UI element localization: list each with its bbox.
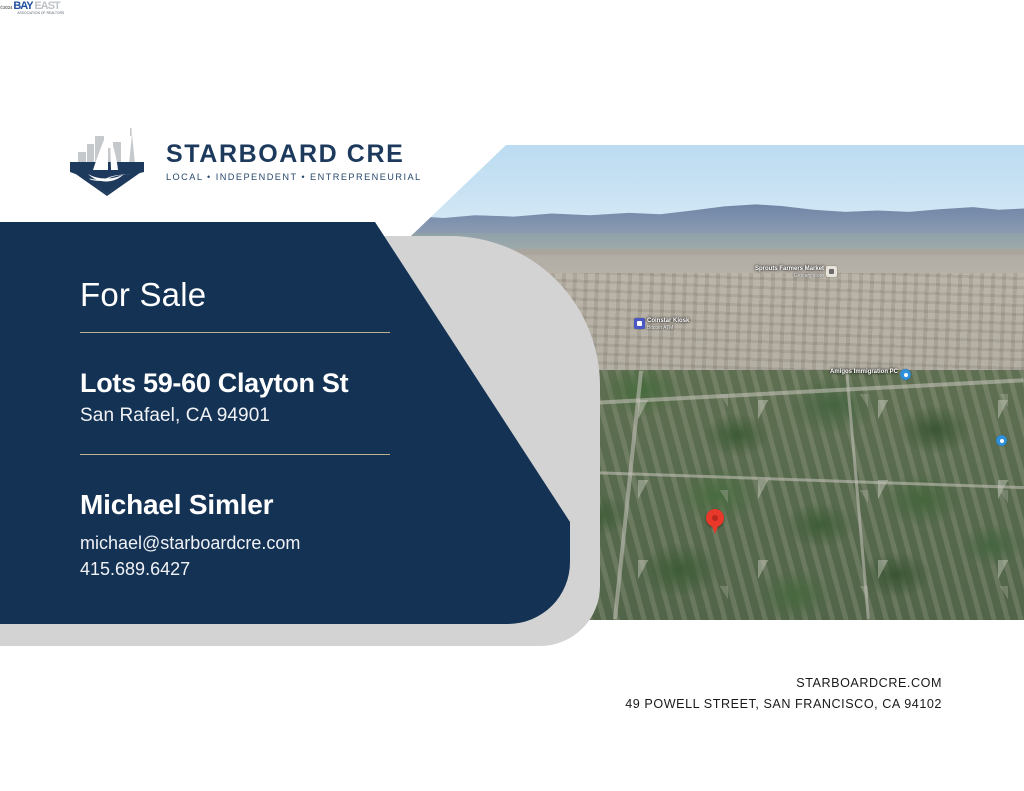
poi-circle-icon [900,369,911,380]
listing-info-panel: For Sale Lots 59-60 Clayton St San Rafae… [0,222,600,624]
divider-top [80,332,390,333]
map-poi-right-edge[interactable] [996,435,1007,446]
divider-bottom [80,454,390,455]
brand-name: STARBOARD CRE [166,141,422,167]
bayeast-attribution-logo: ©2024 BAY EAST ASSOCIATION OF REALTORS [0,0,74,16]
property-city: San Rafael, CA 94901 [80,404,270,428]
poi-circle-icon [996,435,1007,446]
sailboat-skyline-icon [68,126,146,196]
copyright-text: ©2024 [0,6,13,11]
poi-square-icon [826,266,837,277]
brand-tagline: LOCAL • INDEPENDENT • ENTREPRENEURIAL [166,172,422,182]
footer: STARBOARDCRE.COM 49 POWELL STREET, SAN F… [625,673,942,715]
agent-email[interactable]: michael@starboardcre.com [80,531,300,555]
page-title: Lots 59-60 Clayton St [80,367,348,399]
map-poi-sprouts[interactable]: Sprouts Farmers Market Grocery store [755,266,837,279]
poi-subtitle: Bitcoin ATM [647,325,689,332]
map-poi-coinstar[interactable]: Coinstar Kiosk Bitcoin ATM [634,318,689,331]
agent-phone[interactable]: 415.689.6427 [80,557,190,581]
agent-name: Michael Simler [80,488,273,522]
brand-logo[interactable]: STARBOARD CRE LOCAL • INDEPENDENT • ENTR… [68,126,422,196]
bayeast-east-text: EAST [34,1,59,12]
poi-subtitle: Grocery store [794,273,824,280]
poi-name: Amigos Immigration PC [830,369,898,376]
bayeast-bay-text: BAY [13,1,32,12]
bayeast-subtitle: ASSOCIATION OF REALTORS [17,11,64,15]
map-poi-amigos-immigration[interactable]: Amigos Immigration PC [830,369,911,380]
footer-website[interactable]: STARBOARDCRE.COM [625,673,942,694]
map-pin-icon[interactable] [706,509,724,535]
status-badge: For Sale [80,276,206,314]
footer-address: 49 POWELL STREET, SAN FRANCISCO, CA 9410… [625,694,942,715]
poi-square-icon [634,318,645,329]
